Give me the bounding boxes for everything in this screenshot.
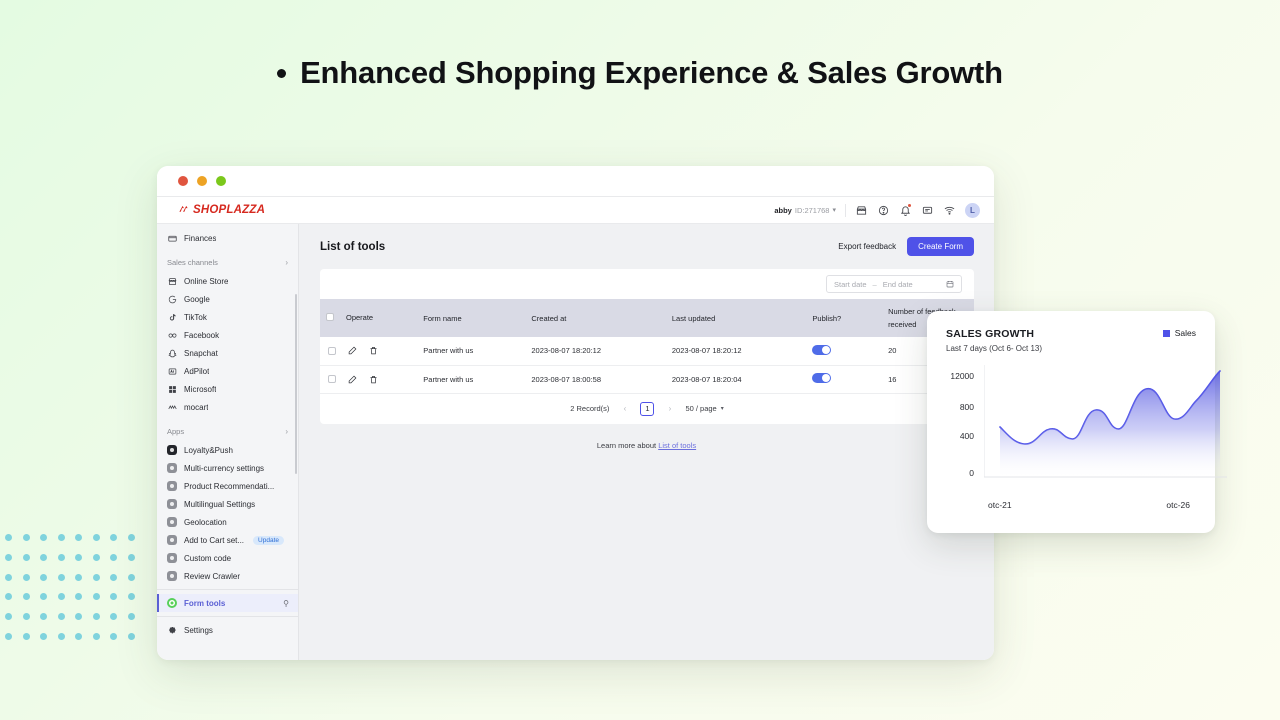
start-date-input[interactable]: Start date	[834, 280, 867, 289]
sales-area-chart	[984, 365, 1234, 490]
sidebar-item-settings[interactable]: Settings	[157, 621, 298, 639]
brand-name: SHOPLAZZA	[193, 204, 265, 216]
sidebar-item-multi-currency-settings[interactable]: Multi-currency settings	[157, 459, 298, 477]
select-all-checkbox[interactable]	[326, 313, 334, 321]
sidebar-item-label: Google	[184, 295, 210, 304]
facebook-icon	[167, 330, 177, 340]
publish-toggle[interactable]	[812, 373, 831, 383]
app-icon-geolocation	[167, 517, 177, 527]
y-tick-0: 0	[934, 468, 974, 478]
filter-row: Start date – End date	[320, 269, 974, 299]
y-tick-800: 800	[934, 402, 974, 412]
sidebar: Finances Sales channels › Online Store G…	[157, 224, 299, 660]
gear-icon	[167, 625, 177, 635]
chart-subtitle: Last 7 days (Oct 6- Oct 13)	[946, 344, 1042, 353]
tools-table: Operate Form name Created at Last update…	[320, 299, 974, 394]
sidebar-item-add-to-cart-settings[interactable]: Add to Cart set... Update	[157, 531, 298, 549]
sidebar-item-label: Geolocation	[184, 518, 227, 527]
sidebar-item-loyalty-push[interactable]: Loyalty&Push	[157, 441, 298, 459]
avatar[interactable]: L	[965, 203, 980, 218]
column-header-form-name: Form name	[417, 299, 525, 337]
row-created-at: 2023-08-07 18:20:12	[525, 337, 666, 365]
sidebar-item-google[interactable]: Google	[157, 290, 298, 308]
account-id: ID:271768	[795, 206, 830, 215]
store-icon	[167, 276, 177, 286]
y-tick-12000: 12000	[934, 371, 974, 381]
update-badge[interactable]: Update	[253, 536, 284, 545]
end-date-input[interactable]: End date	[883, 280, 913, 289]
main-content: List of tools Export feedback Create For…	[299, 224, 994, 660]
edit-pencil-icon[interactable]	[348, 346, 357, 355]
sidebar-section-sales-channels[interactable]: Sales channels ›	[157, 252, 298, 272]
edit-pencil-icon[interactable]	[348, 375, 357, 384]
decorative-dot-pattern	[0, 528, 140, 646]
sidebar-item-label: TikTok	[184, 313, 207, 322]
row-operate-cell	[320, 337, 417, 365]
shoplazza-logo-icon	[178, 204, 189, 217]
sidebar-item-label: Settings	[184, 626, 213, 635]
adpilot-icon	[167, 366, 177, 376]
finances-icon	[167, 233, 177, 243]
row-last-updated: 2023-08-07 18:20:04	[666, 365, 807, 393]
calendar-icon[interactable]	[946, 280, 954, 288]
row-checkbox[interactable]	[328, 375, 336, 383]
sidebar-item-finances[interactable]: Finances	[157, 229, 298, 247]
row-form-name: Partner with us	[417, 365, 525, 393]
row-last-updated: 2023-08-07 18:20:12	[666, 337, 807, 365]
column-header-created-at: Created at	[525, 299, 666, 337]
chevron-down-icon: ▾	[721, 405, 724, 412]
sidebar-item-label: mocart	[184, 403, 208, 412]
app-icon-loyalty-push	[167, 445, 177, 455]
sidebar-divider	[157, 616, 298, 617]
page-headline: Enhanced Shopping Experience & Sales Gro…	[0, 55, 1280, 91]
sidebar-section-label: Apps	[167, 427, 184, 436]
delete-trash-icon[interactable]	[369, 375, 378, 384]
prev-page-button[interactable]: ‹	[618, 402, 631, 415]
sidebar-scrollbar[interactable]	[295, 294, 297, 474]
row-publish-cell	[806, 337, 882, 365]
app-icon-multi-currency	[167, 463, 177, 473]
page-title: List of tools	[320, 241, 385, 253]
window-titlebar	[157, 166, 994, 196]
legend-label-sales: Sales	[1175, 328, 1196, 338]
sidebar-item-microsoft[interactable]: Microsoft	[157, 380, 298, 398]
page-size-label: 50 / page	[685, 404, 716, 413]
sidebar-item-label: AdPilot	[184, 367, 209, 376]
publish-toggle[interactable]	[812, 345, 831, 355]
notification-bell-icon[interactable]	[899, 204, 912, 217]
chevron-right-icon: ›	[285, 427, 288, 436]
tiktok-icon	[167, 312, 177, 322]
app-icon-product-recommendation	[167, 481, 177, 491]
learn-more-text: Learn more about	[597, 441, 656, 450]
row-checkbox[interactable]	[328, 347, 336, 355]
window-zoom-button[interactable]	[216, 176, 226, 186]
app-icon-custom-code	[167, 553, 177, 563]
pagination: 2 Record(s) ‹ 1 › 50 / page ▾	[320, 394, 974, 424]
x-tick-end: otc-26	[1166, 500, 1190, 510]
browser-window: SHOPLAZZA abby ID:271768 ▾	[157, 166, 994, 660]
date-range-separator: –	[873, 280, 877, 289]
legend-swatch-sales	[1163, 330, 1170, 337]
sidebar-section-apps[interactable]: Apps ›	[157, 421, 298, 441]
sidebar-item-label: Custom code	[184, 554, 231, 563]
tools-table-card: Start date – End date	[320, 269, 974, 424]
brand-logo[interactable]: SHOPLAZZA	[178, 204, 265, 217]
row-created-at: 2023-08-07 18:00:58	[525, 365, 666, 393]
sidebar-item-label: Facebook	[184, 331, 219, 340]
sidebar-item-review-crawler[interactable]: Review Crawler	[157, 567, 298, 585]
headline-text: Enhanced Shopping Experience & Sales Gro…	[300, 55, 1003, 91]
sidebar-item-product-recommendation[interactable]: Product Recommendati...	[157, 477, 298, 495]
notification-badge	[908, 204, 911, 207]
y-tick-400: 400	[934, 431, 974, 441]
google-icon	[167, 294, 177, 304]
sidebar-item-label: Loyalty&Push	[184, 446, 233, 455]
table-row[interactable]: Partner with us 2023-08-07 18:20:12 2023…	[320, 337, 974, 365]
export-feedback-button[interactable]: Export feedback	[838, 242, 896, 251]
app-icon-review-crawler	[167, 571, 177, 581]
chart-legend: Sales	[1163, 328, 1196, 338]
page-size-select[interactable]: 50 / page ▾	[685, 404, 723, 413]
sidebar-item-label: Microsoft	[184, 385, 216, 394]
app-icon-add-to-cart	[167, 535, 177, 545]
create-form-button[interactable]: Create Form	[907, 237, 974, 256]
app-icon-multilingual	[167, 499, 177, 509]
sidebar-item-label: Multi-currency settings	[184, 464, 264, 473]
window-close-button[interactable]	[178, 176, 188, 186]
sidebar-item-facebook[interactable]: Facebook	[157, 326, 298, 344]
column-header-last-updated: Last updated	[666, 299, 807, 337]
microsoft-icon	[167, 384, 177, 394]
next-page-button[interactable]: ›	[663, 402, 676, 415]
sidebar-item-multilingual-settings[interactable]: Multilingual Settings	[157, 495, 298, 513]
date-range-picker[interactable]: Start date – End date	[826, 275, 962, 293]
list-of-tools-link[interactable]: List of tools	[658, 441, 696, 450]
mocart-icon	[167, 402, 177, 412]
delete-trash-icon[interactable]	[369, 346, 378, 355]
store-icon[interactable]	[855, 204, 868, 217]
sidebar-item-label: Multilingual Settings	[184, 500, 255, 509]
sidebar-item-label: Form tools	[184, 599, 225, 608]
sidebar-item-geolocation[interactable]: Geolocation	[157, 513, 298, 531]
sidebar-item-label: Review Crawler	[184, 572, 240, 581]
row-form-name: Partner with us	[417, 337, 525, 365]
table-row[interactable]: Partner with us 2023-08-07 18:00:58 2023…	[320, 365, 974, 393]
header-divider	[845, 204, 846, 217]
app-body: Finances Sales channels › Online Store G…	[157, 224, 994, 660]
sidebar-item-label: Add to Cart set...	[184, 536, 244, 545]
chart-plot-area: 12000 800 400 0 otc-21 otc-26	[946, 365, 1196, 510]
sidebar-item-label: Product Recommendati...	[184, 482, 274, 491]
sidebar-item-form-tools[interactable]: Form tools ⚲	[157, 594, 298, 612]
chart-header: SALES GROWTH Last 7 days (Oct 6- Oct 13)…	[946, 328, 1196, 353]
app-icon-form-tools	[167, 598, 177, 608]
sidebar-item-label: Online Store	[184, 277, 228, 286]
x-tick-start: otc-21	[988, 500, 1012, 510]
sidebar-item-custom-code[interactable]: Custom code	[157, 549, 298, 567]
sidebar-item-adpilot[interactable]: AdPilot	[157, 362, 298, 380]
bullet-dot-icon	[277, 69, 286, 78]
sidebar-item-label: Snapchat	[184, 349, 218, 358]
record-count: 2 Record(s)	[570, 404, 609, 413]
sidebar-item-mocart[interactable]: mocart	[157, 398, 298, 416]
table-header-row: Operate Form name Created at Last update…	[320, 299, 974, 337]
chevron-right-icon: ›	[285, 258, 288, 267]
learn-more-footer: Learn more about List of tools	[299, 441, 994, 450]
wifi-icon[interactable]	[943, 204, 956, 217]
page-number-1[interactable]: 1	[640, 402, 654, 416]
column-header-publish: Publish?	[806, 299, 882, 337]
row-operate-cell	[320, 365, 417, 393]
sidebar-item-label: Finances	[184, 234, 216, 243]
sidebar-section-label: Sales channels	[167, 258, 218, 267]
account-name: abby	[774, 206, 792, 215]
chart-title: SALES GROWTH	[946, 328, 1042, 340]
row-publish-cell	[806, 365, 882, 393]
chevron-down-icon: ▾	[832, 206, 836, 214]
sales-growth-card: SALES GROWTH Last 7 days (Oct 6- Oct 13)…	[927, 311, 1215, 533]
snapchat-icon	[167, 348, 177, 358]
account-switcher[interactable]: abby ID:271768 ▾	[774, 206, 836, 215]
message-icon[interactable]	[921, 204, 934, 217]
sidebar-item-tiktok[interactable]: TikTok	[157, 308, 298, 326]
window-minimize-button[interactable]	[197, 176, 207, 186]
help-icon[interactable]	[877, 204, 890, 217]
sidebar-item-snapchat[interactable]: Snapchat	[157, 344, 298, 362]
sidebar-divider	[157, 589, 298, 590]
app-header: SHOPLAZZA abby ID:271768 ▾	[157, 196, 994, 224]
column-header-operate: Operate	[320, 299, 417, 337]
header-actions: abby ID:271768 ▾ L	[774, 203, 980, 218]
sidebar-item-online-store[interactable]: Online Store	[157, 272, 298, 290]
pin-icon[interactable]: ⚲	[283, 599, 289, 608]
page-header: List of tools Export feedback Create For…	[299, 237, 994, 256]
